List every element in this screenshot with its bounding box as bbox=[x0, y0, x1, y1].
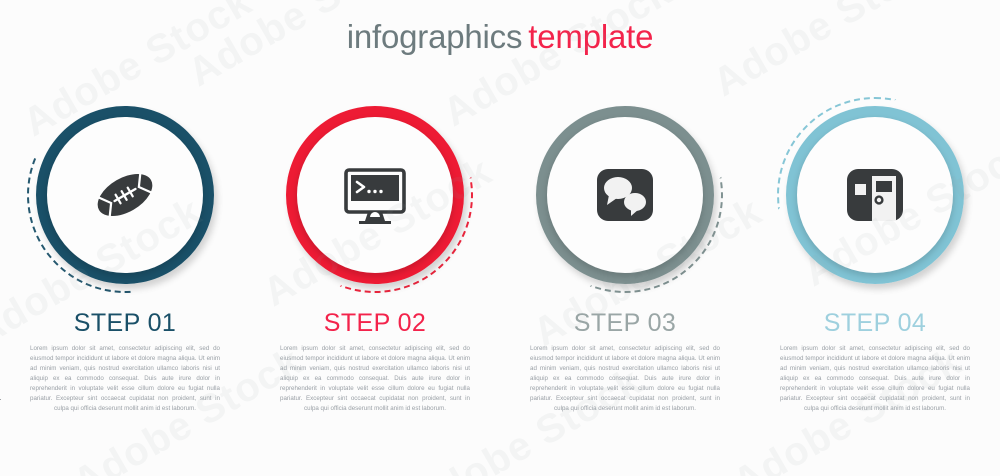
step-item-4[interactable]: STEP 04 Lorem ipsum dolor sit amet, cons… bbox=[750, 95, 1000, 414]
step-badge-4[interactable] bbox=[775, 95, 975, 295]
step-body-4: Lorem ipsum dolor sit amet, consectetur … bbox=[780, 344, 970, 414]
step-label-2: STEP 02 bbox=[324, 309, 426, 338]
title-word-template: template bbox=[522, 18, 653, 55]
steps-row: STEP 01 Lorem ipsum dolor sit amet, cons… bbox=[0, 95, 1000, 414]
icon-disc-1[interactable] bbox=[47, 117, 203, 273]
step-item-1[interactable]: STEP 01 Lorem ipsum dolor sit amet, cons… bbox=[0, 95, 250, 414]
american-football-icon bbox=[87, 157, 163, 233]
step-label-4: STEP 04 bbox=[824, 309, 926, 338]
step-item-2[interactable]: STEP 02 Lorem ipsum dolor sit amet, cons… bbox=[250, 95, 500, 414]
icon-disc-3[interactable] bbox=[547, 117, 703, 273]
icon-disc-4[interactable] bbox=[797, 117, 953, 273]
step-badge-2[interactable] bbox=[275, 95, 475, 295]
icon-disc-2[interactable] bbox=[297, 117, 453, 273]
step-body-3: Lorem ipsum dolor sit amet, consectetur … bbox=[530, 344, 720, 414]
door-entrance-icon bbox=[837, 157, 913, 233]
title-word-infographics: infographics bbox=[347, 18, 523, 55]
step-badge-1[interactable] bbox=[25, 95, 225, 295]
step-body-2: Lorem ipsum dolor sit amet, consectetur … bbox=[280, 344, 470, 414]
step-label-1: STEP 01 bbox=[74, 309, 176, 338]
monitor-terminal-icon bbox=[337, 157, 413, 233]
step-item-3[interactable]: STEP 03 Lorem ipsum dolor sit amet, cons… bbox=[500, 95, 750, 414]
speech-bubbles-icon bbox=[587, 157, 663, 233]
page-title: infographicstemplate bbox=[0, 18, 1000, 56]
step-body-1: Lorem ipsum dolor sit amet, consectetur … bbox=[30, 344, 220, 414]
step-label-3: STEP 03 bbox=[574, 309, 676, 338]
step-badge-3[interactable] bbox=[525, 95, 725, 295]
